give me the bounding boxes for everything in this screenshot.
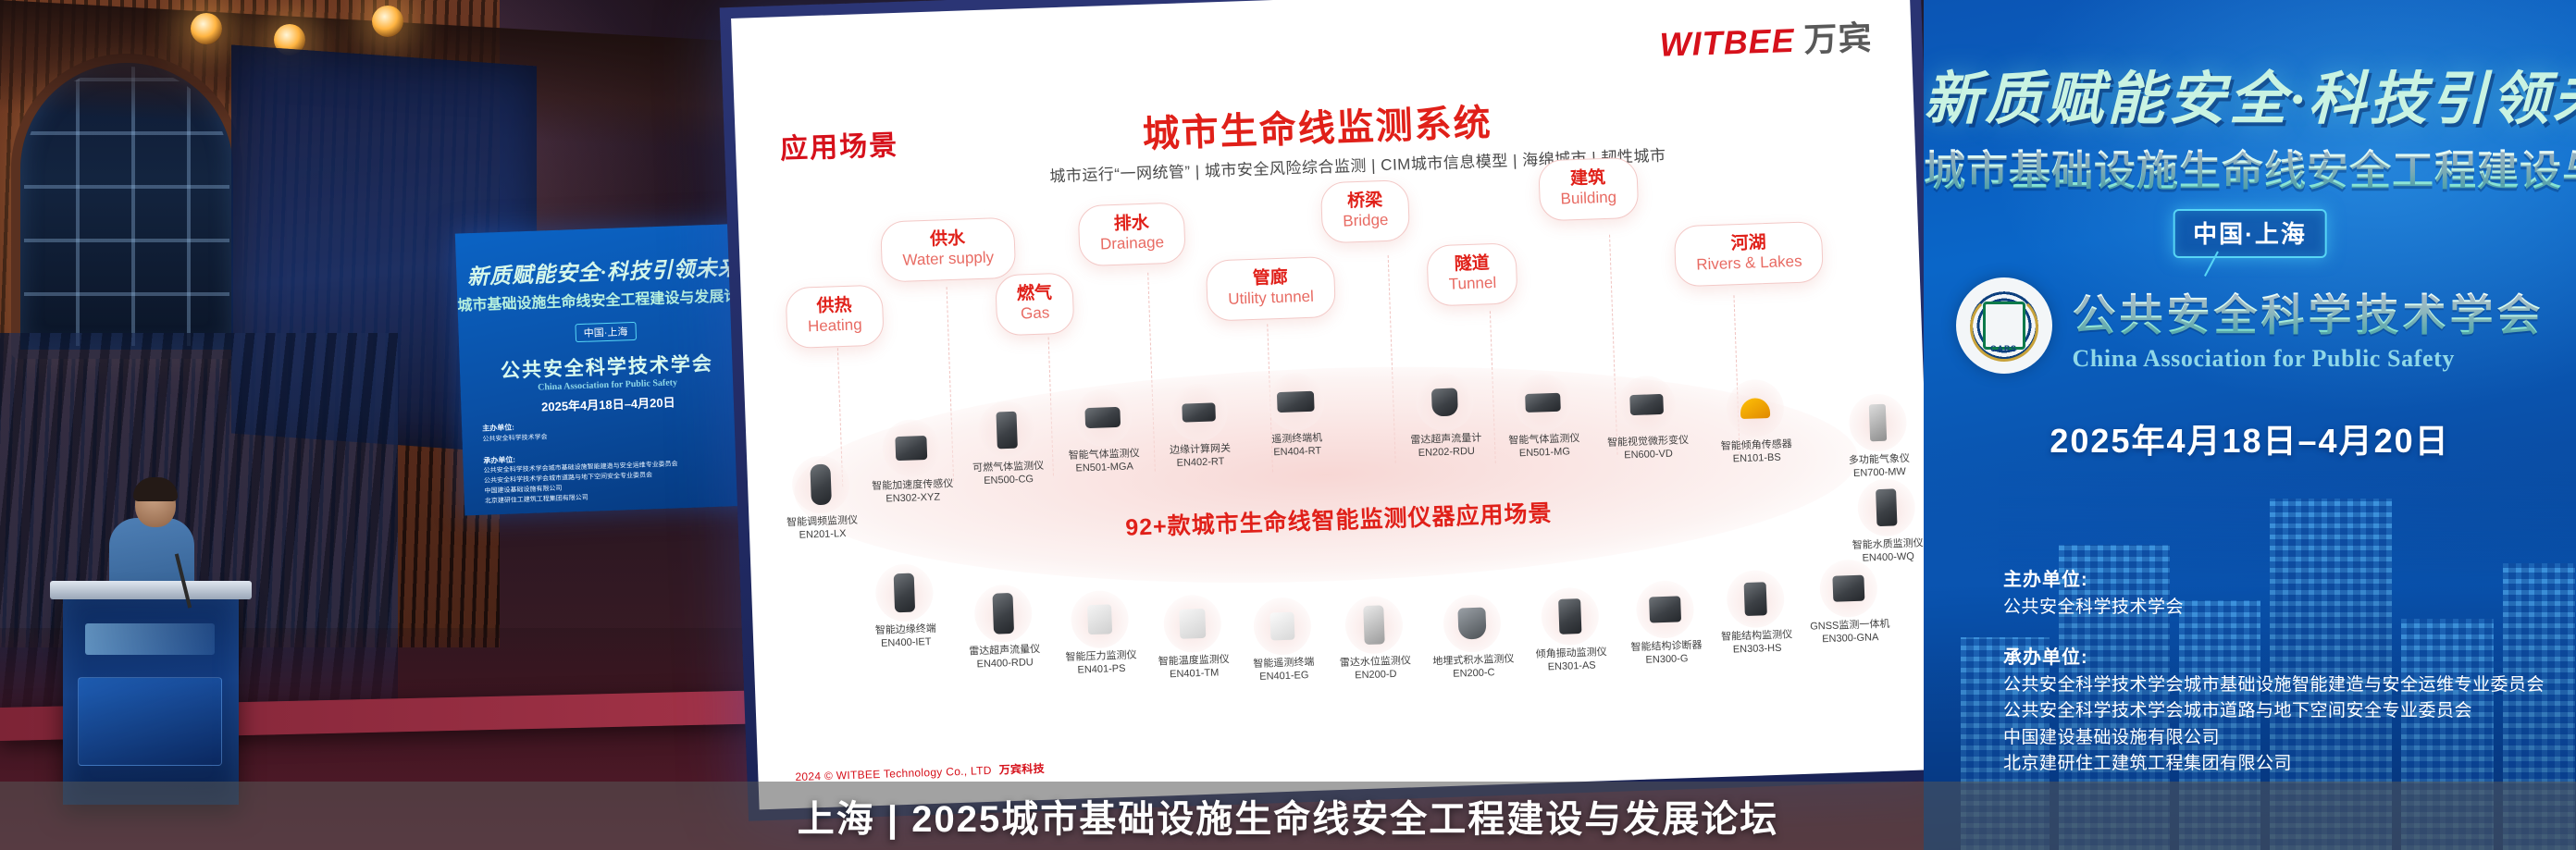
device-item[interactable]: 边缘计算网关 EN402-RT	[1150, 382, 1249, 471]
device-photo	[1541, 586, 1600, 646]
bubble-en: Utility tunnel	[1228, 288, 1314, 310]
caption-text: 上海 | 2025城市基础设施生命线安全工程建设与发展论坛	[798, 789, 1778, 843]
presentation-slide: WITBEE万宾 应用场景 城市生命线监测系统 城市运行“一网统管” | 城市安…	[731, 0, 1938, 809]
device-photo	[1415, 373, 1474, 432]
secondary-forum-banner: 新质赋能安全·科技引领未来 城市基础设施生命线安全工程建设与发展论坛 中国·上海…	[455, 224, 759, 516]
spotlight-icon	[191, 13, 222, 44]
device-photo	[1266, 372, 1325, 431]
device-item[interactable]: 雷达超声流量仪 EN400-RDU	[951, 583, 1056, 671]
device-photo	[882, 419, 941, 478]
forum-banner: 新质赋能安全·科技引领未来 城市基础设施生命线安全工程建设与发展论坛 中国·上海…	[1924, 0, 2576, 850]
device-item[interactable]: 智能压力监测仪 EN401-PS	[1049, 589, 1150, 678]
device-photo	[973, 584, 1033, 643]
seal-center-icon	[1983, 302, 2025, 350]
podium	[63, 592, 239, 805]
bubble-cn: 燃气	[1017, 283, 1053, 304]
mini-banner-organizers: 主办单位: 公共安全科学技术学会 承办单位: 公共安全科学技术学会城市基础设施智…	[482, 416, 679, 507]
bubble-en: Gas	[1017, 303, 1053, 324]
device-item[interactable]: 智能加速度传感仪 EN302-XYZ	[859, 418, 965, 507]
mini-host-item: 公共安全科学技术学会	[482, 434, 547, 442]
category-bubble-building[interactable]: 建筑 Building	[1538, 157, 1639, 222]
slide-copyright-en: 2024 © WITBEE Technology Co., LTD	[795, 764, 992, 783]
slide-scene-tag: 应用场景	[779, 122, 899, 166]
bubble-cn: 管廊	[1227, 267, 1313, 290]
organizer-item: 公共安全科学技术学会城市道路与地下空间安全专业委员会	[2003, 698, 2545, 725]
category-bubble-rivers-lakes[interactable]: 河湖 Rivers & Lakes	[1674, 221, 1825, 288]
device-item[interactable]: 智能气体监测仪 EN501-MGA	[1050, 388, 1157, 476]
device-item[interactable]: 智能气体监测仪 EN501-MG	[1492, 373, 1594, 462]
mini-organizer-label: 承办单位:	[483, 455, 515, 464]
device-photo	[977, 400, 1036, 460]
device-photo	[1857, 478, 1916, 537]
device-photo	[1163, 594, 1222, 653]
witbee-logo-cn: 万宾	[1803, 18, 1873, 58]
device-photo	[1635, 580, 1694, 639]
category-bubble-utility-tunnel[interactable]: 管廊 Utility tunnel	[1206, 256, 1336, 322]
device-photo	[1443, 594, 1502, 653]
bubble-cn: 排水	[1099, 213, 1164, 235]
device-item[interactable]: 地埋式积水监测仪 EN200-C	[1418, 593, 1527, 682]
bubble-en: Drainage	[1100, 233, 1165, 254]
host-item: 公共安全科学技术学会	[2003, 595, 2545, 622]
device-photo	[1170, 383, 1229, 442]
device-photo	[1344, 596, 1404, 655]
category-bubble-bridge[interactable]: 桥梁 Bridge	[1320, 179, 1410, 243]
organizer-item: 公共安全科学技术学会城市基础设施智能建造与安全运维专业委员会	[2003, 672, 2545, 699]
organizer-spacer	[2003, 622, 2545, 642]
podium-logo	[85, 623, 215, 655]
bubble-en: Tunnel	[1448, 274, 1496, 294]
bubble-cn: 供热	[807, 295, 861, 317]
seal-abbr: CAPS	[1956, 344, 2052, 353]
category-bubble-tunnel[interactable]: 隧道 Tunnel	[1426, 242, 1518, 307]
podium-top	[50, 581, 252, 599]
mini-banner-association: 公共安全科学技术学会 China Association for Public …	[459, 347, 754, 395]
device-photo	[1726, 570, 1785, 629]
bubble-en: Bridge	[1343, 211, 1389, 231]
podium-panel	[78, 677, 222, 766]
device-item[interactable]: 智能结构诊断器 EN300-G	[1614, 579, 1716, 668]
category-bubble-drainage[interactable]: 排水 Drainage	[1078, 202, 1186, 266]
device-item[interactable]: 遥测终端机 EN404-RT	[1246, 372, 1345, 461]
bubble-en: Rivers & Lakes	[1696, 253, 1802, 275]
device-item[interactable]: 可燃气体监测仪 EN500-CG	[956, 400, 1059, 488]
device-photo	[1617, 375, 1677, 434]
category-bubble-heating[interactable]: 供热 Heating	[786, 285, 885, 350]
bubble-en: Water supply	[902, 248, 994, 270]
device-item[interactable]: 智能温度监测仪 EN401-TM	[1141, 594, 1245, 683]
category-bubble-group: 供热 Heating 供水 Water supply 燃气 Gas 排水 Dra…	[737, 140, 1921, 364]
device-photo	[791, 455, 850, 514]
association-names: 公共安全科学技术学会 China Association for Public …	[2073, 279, 2545, 373]
mini-banner-date: 2025年4月18日–4月20日	[461, 389, 755, 417]
device-code: EN400-IET	[857, 635, 955, 651]
device-item[interactable]: 多功能气象仪 EN700-MW	[1826, 392, 1930, 481]
bubble-cn: 隧道	[1448, 253, 1496, 276]
category-bubble-water-supply[interactable]: 供水 Water supply	[880, 217, 1016, 283]
banner-forum-title: 城市基础设施生命线安全工程建设与发展论坛	[1924, 137, 2576, 197]
slide-copyright-cn: 万宾科技	[998, 762, 1045, 777]
host-label: 主办单位:	[2003, 564, 2545, 591]
device-item[interactable]: GNSS监测一体机 EN300-GNA	[1793, 558, 1905, 647]
device-item[interactable]: 倾角振动监测仪 EN301-AS	[1520, 586, 1621, 675]
device-item[interactable]: 智能遥测终端 EN401-EG	[1233, 596, 1332, 684]
caption-bar: 上海 | 2025城市基础设施生命线安全工程建设与发展论坛	[0, 782, 2576, 850]
organizer-item: 北京建研住工建筑工程集团有限公司	[2003, 751, 2545, 778]
witbee-logo-en: WITBEE	[1659, 21, 1795, 64]
device-item[interactable]: 智能倾角传感器 EN101-BS	[1702, 378, 1810, 467]
event-date: 2025年4月18日–4月20日	[1924, 414, 2576, 462]
device-photo	[1253, 597, 1312, 656]
device-photo	[1848, 393, 1907, 452]
mini-banner-location-chip: 中国·上海	[575, 322, 636, 342]
device-photo	[1070, 590, 1129, 649]
device-code: EN401-EG	[1236, 669, 1332, 684]
category-bubble-gas[interactable]: 燃气 Gas	[995, 273, 1074, 337]
device-item[interactable]: 智能视觉微形变仪 EN600-VD	[1592, 375, 1703, 463]
device-item[interactable]: 智能结构监测仪 EN303-HS	[1704, 569, 1807, 658]
witbee-logo: WITBEE万宾	[1659, 11, 1874, 67]
mini-organizer-item: 北京建研住工建筑工程集团有限公司	[485, 495, 588, 505]
location-chip: 中国·上海	[2173, 209, 2327, 258]
device-photo	[874, 563, 934, 622]
organizer-item: 中国建设基础设施有限公司	[2003, 725, 2545, 752]
bubble-en: Building	[1560, 188, 1616, 208]
device-photo	[1726, 378, 1785, 437]
mini-host-label: 主办单位:	[482, 424, 514, 433]
slide-title: 城市生命线监测系统	[1142, 92, 1493, 158]
main-led-screen: WITBEE万宾 应用场景 城市生命线监测系统 城市运行“一网统管” | 城市安…	[720, 0, 1950, 821]
device-photo	[1073, 388, 1133, 447]
bubble-cn: 桥梁	[1342, 191, 1388, 213]
mini-organizer-item: 公共安全科学技术学会城市道路与地下空间安全专业委员会	[484, 473, 652, 485]
device-photo	[1513, 373, 1572, 432]
conference-stage-photo: 新质赋能安全·科技引领未来 城市基础设施生命线安全工程建设与发展论坛 中国·上海…	[0, 0, 2576, 850]
device-item[interactable]: 雷达水位监测仪 EN200-D	[1324, 595, 1425, 684]
association-block: CAPS 公共安全科学技术学会 China Association for Pu…	[1924, 277, 2576, 374]
bubble-en: Heating	[808, 315, 862, 336]
association-name-en: China Association for Public Safety	[2073, 345, 2545, 373]
device-item[interactable]: 雷达超声流量计 EN202-RDU	[1392, 372, 1498, 461]
bubble-cn: 建筑	[1559, 168, 1616, 191]
mini-organizer-item: 中国建设基础设施有限公司	[484, 486, 562, 495]
device-photo	[1819, 559, 1878, 618]
banner-slogan: 新质赋能安全·科技引领未来	[1924, 52, 2576, 135]
organizer-label: 承办单位:	[2003, 642, 2545, 669]
association-name-cn: 公共安全科学技术学会	[2073, 279, 2545, 343]
spotlight-icon	[372, 6, 403, 37]
caps-seal-icon: CAPS	[1956, 277, 2052, 374]
device-item[interactable]: 智能水质监测仪 EN400-WQ	[1837, 477, 1938, 566]
organizer-block: 主办单位: 公共安全科学技术学会 承办单位: 公共安全科学技术学会城市基础设施智…	[2003, 564, 2545, 778]
device-item[interactable]: 智能边缘终端 EN400-IET	[854, 562, 955, 651]
